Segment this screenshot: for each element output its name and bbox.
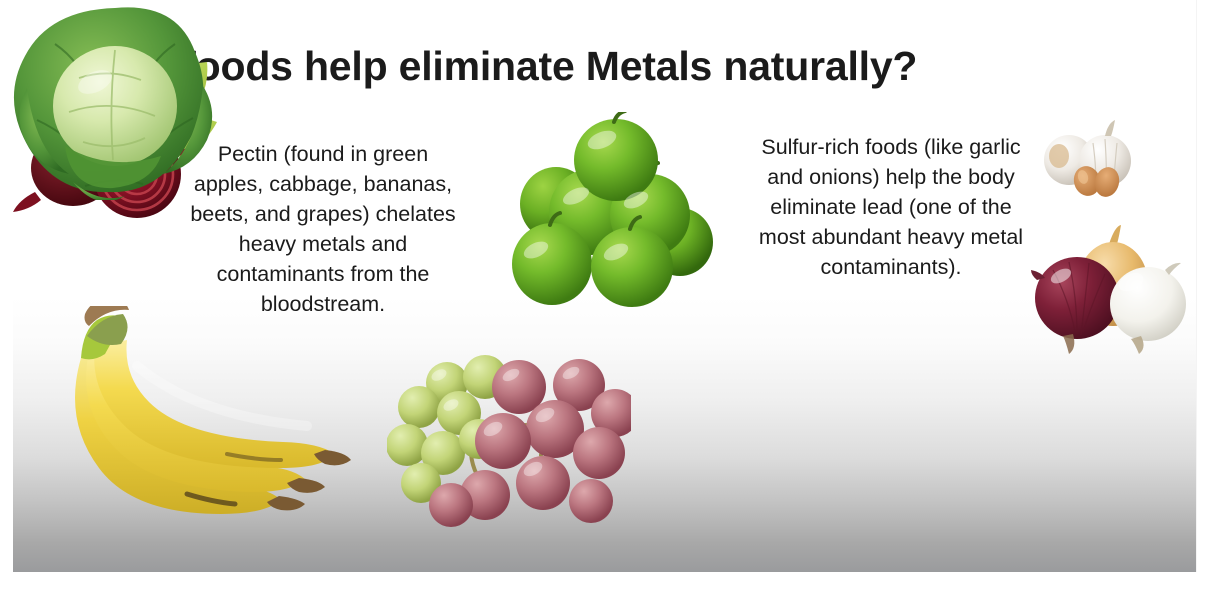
cabbage-image — [13, 0, 218, 200]
bananas-image — [37, 306, 389, 531]
green-apples-image — [498, 112, 728, 307]
garlic-image — [1039, 115, 1159, 205]
slide-right-border — [1196, 0, 1197, 572]
slide-canvas: Which foods help eliminate Metals natura… — [13, 0, 1197, 572]
onions-image — [1031, 222, 1197, 367]
sulfur-foods-description-text: Sulfur-rich foods (like garlic and onion… — [750, 132, 1032, 282]
grapes-image — [387, 335, 631, 540]
